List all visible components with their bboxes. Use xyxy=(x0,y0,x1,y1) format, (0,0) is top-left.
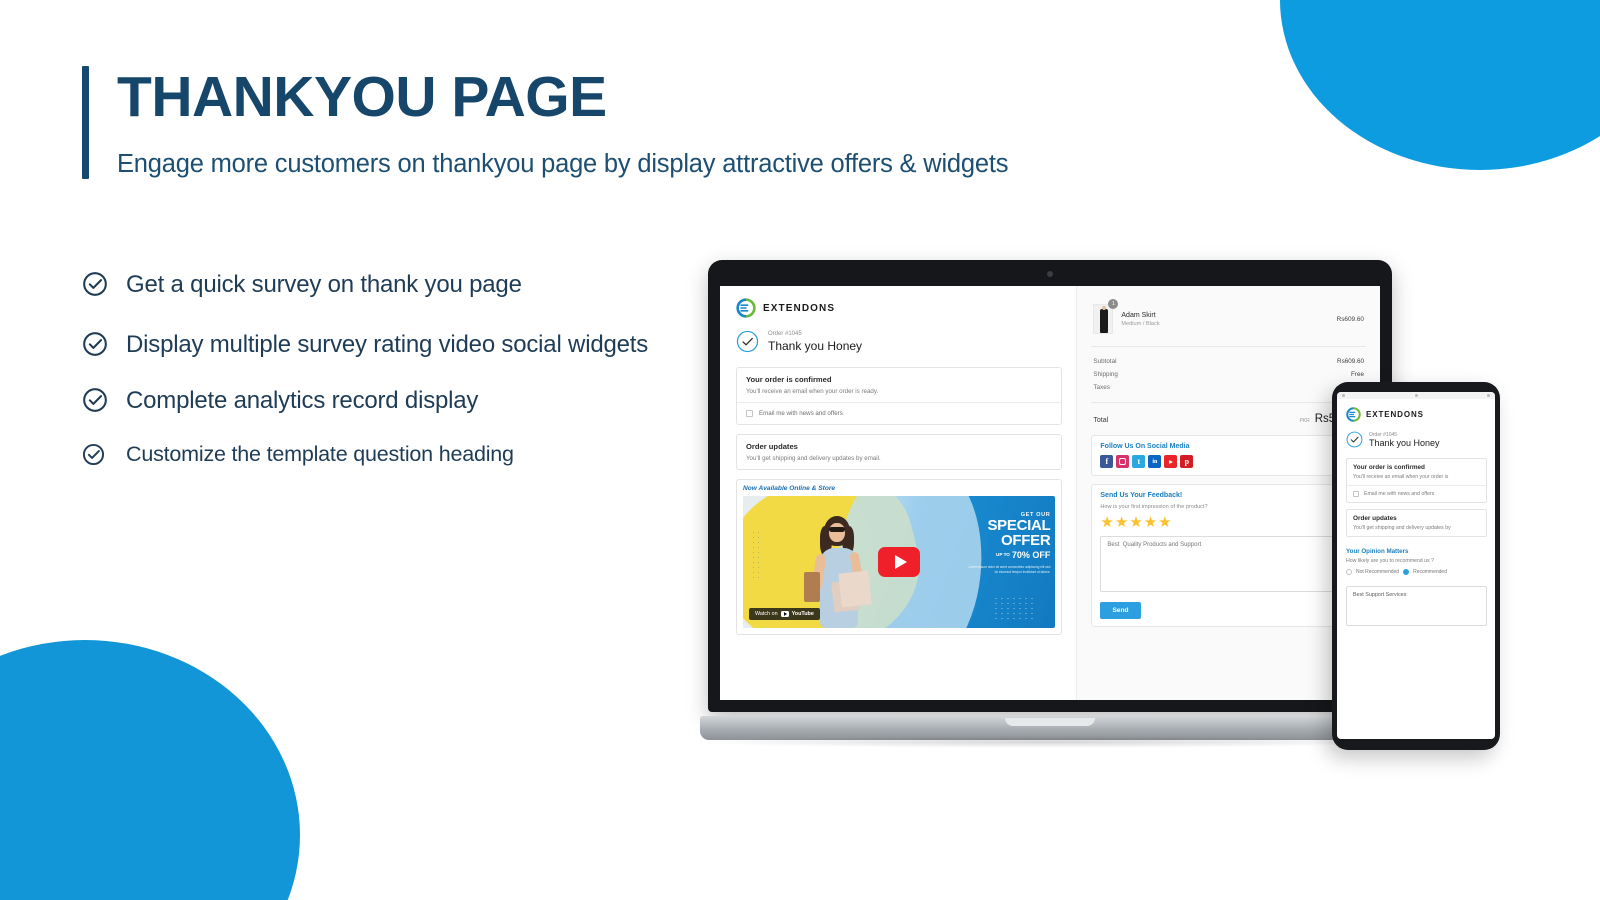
updates-title: Order updates xyxy=(746,442,1052,451)
social-media-widget: Follow Us On Social Media f t in p xyxy=(1091,435,1366,476)
promo-heading: Now Available Online & Store xyxy=(743,485,1055,492)
phone-opinion-title: Your Opinion Matters xyxy=(1346,548,1481,555)
confirmed-section: Your order is confirmed You'll receive a… xyxy=(737,368,1061,402)
promo-discount: UP TO70% OFF xyxy=(964,550,1050,560)
thankyou-page: EXTENDONS Order #1045 Thank you Honey xyxy=(720,286,1380,700)
confirmed-title: Your order is confirmed xyxy=(746,375,1052,384)
status-dot-icon xyxy=(1487,394,1490,397)
check-circle-icon xyxy=(82,440,108,471)
radio-not-recommended[interactable] xyxy=(1346,569,1352,575)
order-number: Order #1045 xyxy=(768,331,862,337)
watch-on-youtube-button[interactable]: Watch on YouTube xyxy=(749,608,820,620)
status-dot-icon xyxy=(1415,394,1418,397)
phone-confirmed-card: Your order is confirmed You'll receive a… xyxy=(1346,458,1487,503)
order-confirmed-card: Your order is confirmed You'll receive a… xyxy=(736,367,1062,425)
extendons-logo-icon xyxy=(1346,407,1361,422)
list-item: Get a quick survey on thank you page xyxy=(82,268,682,302)
webcam-icon xyxy=(1047,271,1053,277)
store-brand: EXTENDONS xyxy=(736,298,1062,318)
star-rating[interactable]: ★★★★★ xyxy=(1100,515,1357,530)
feature-label: Complete analytics record display xyxy=(126,384,478,417)
thank-you-heading: Thank you Honey xyxy=(768,339,862,353)
divider xyxy=(1091,346,1366,347)
feedback-title: Send Us Your Feedback! xyxy=(1100,492,1357,499)
feature-label: Display multiple survey rating video soc… xyxy=(126,328,648,361)
instagram-icon[interactable] xyxy=(1116,455,1129,468)
newsletter-label: Email me with news and offers xyxy=(759,410,843,417)
summary-label: Shipping xyxy=(1093,371,1118,378)
line-item-row: 1 Adam Skirt Medium / Black Rs609.60 xyxy=(1091,298,1366,344)
confirmed-subtitle: You'll receive an email when your order … xyxy=(746,388,1052,395)
phone-updates-subtitle: You'll get shipping and delivery updates… xyxy=(1353,525,1480,531)
phone-newsletter-row[interactable]: Email me with news and offers xyxy=(1347,485,1486,502)
quantity-badge: 1 xyxy=(1108,299,1118,309)
summary-value: Free xyxy=(1351,371,1364,378)
promo-special: SPECIAL xyxy=(964,518,1050,533)
laptop-lid: EXTENDONS Order #1045 Thank you Honey xyxy=(708,260,1392,712)
phone-thank-you: Thank you Honey xyxy=(1369,438,1440,448)
radio-not-recommended-label: Not Recommended xyxy=(1356,569,1399,575)
phone-confirmed-subtitle: You'll receive an email when your order … xyxy=(1353,474,1480,480)
check-circle-icon xyxy=(1346,431,1363,448)
banner-dot-grid-left xyxy=(751,530,761,578)
promo-up-to: UP TO xyxy=(996,552,1010,557)
send-button[interactable]: Send xyxy=(1100,602,1140,619)
linkedin-icon[interactable]: in xyxy=(1148,455,1161,468)
summary-label: Subtotal xyxy=(1093,358,1116,365)
radio-recommended[interactable] xyxy=(1403,569,1409,575)
summary-row: Subtotal Rs609.60 xyxy=(1091,355,1366,368)
check-circle-icon xyxy=(736,330,759,353)
accent-rule xyxy=(82,66,89,179)
list-item: Display multiple survey rating video soc… xyxy=(82,328,682,362)
laptop-shadow xyxy=(690,736,1410,748)
phone-mockup: EXTENDONS Order #1045 Thank you Honey xyxy=(1332,382,1500,750)
newsletter-optin-row[interactable]: Email me with news and offers xyxy=(737,402,1061,424)
phone-updates-card: Order updates You'll get shipping and de… xyxy=(1346,509,1487,537)
phone-status-bar xyxy=(1337,392,1495,399)
youtube-label: YouTube xyxy=(792,611,814,617)
updates-subtitle: You'll get shipping and delivery updates… xyxy=(746,455,1052,462)
check-circle-icon xyxy=(82,268,108,302)
brand-name: EXTENDONS xyxy=(763,303,835,314)
total-currency: PKR xyxy=(1299,418,1309,424)
play-triangle-icon xyxy=(895,555,907,569)
laptop-screen: EXTENDONS Order #1045 Thank you Honey xyxy=(720,286,1380,700)
summary-row: Shipping Free xyxy=(1091,368,1366,381)
updates-section: Order updates You'll get shipping and de… xyxy=(737,435,1061,469)
phone-opinion-widget: Your Opinion Matters How likely are you … xyxy=(1346,543,1487,580)
extendons-logo-icon xyxy=(736,298,756,318)
product-price: Rs609.60 xyxy=(1337,316,1364,323)
phone-recommend-options: Not Recommended Recommended xyxy=(1346,569,1481,575)
phone-updates-section: Order updates You'll get shipping and de… xyxy=(1347,510,1486,536)
phone-screen: EXTENDONS Order #1045 Thank you Honey xyxy=(1337,392,1495,739)
phone-comment-textarea[interactable]: Best Support Services xyxy=(1346,586,1487,626)
feature-label: Get a quick survey on thank you page xyxy=(126,268,522,301)
page-subtitle: Engage more customers on thankyou page b… xyxy=(117,150,1008,179)
feature-label: Customize the template question heading xyxy=(126,440,514,470)
promo-copy: GET OUR SPECIAL OFFER UP TO70% OFF Lorem… xyxy=(964,512,1050,575)
check-circle-icon xyxy=(82,328,108,362)
phone-opinion-question: How likely are you to recommend us ? xyxy=(1346,558,1481,564)
phone-updates-title: Order updates xyxy=(1353,515,1480,522)
laptop-mockup: EXTENDONS Order #1045 Thank you Honey xyxy=(700,260,1400,740)
total-label: Total xyxy=(1093,417,1108,424)
youtube-icon xyxy=(781,611,789,617)
social-widget-title: Follow Us On Social Media xyxy=(1100,443,1357,450)
summary-label: Taxes xyxy=(1093,384,1109,391)
promo-video-widget[interactable]: Now Available Online & Store xyxy=(736,479,1062,635)
total-row: Total PKR Rs591.14 xyxy=(1091,411,1366,435)
social-icon-row: f t in p xyxy=(1100,455,1357,468)
check-circle-icon xyxy=(82,384,108,418)
phone-newsletter-checkbox[interactable] xyxy=(1353,491,1359,497)
feedback-textarea[interactable] xyxy=(1100,536,1357,592)
hero-header: THANKYOU PAGE Engage more customers on t… xyxy=(82,66,1008,179)
feedback-widget: Send Us Your Feedback! How is your first… xyxy=(1091,484,1366,627)
youtube-icon[interactable] xyxy=(1164,455,1177,468)
status-dot-icon xyxy=(1342,394,1345,397)
facebook-icon[interactable]: f xyxy=(1100,455,1113,468)
slide-canvas: THANKYOU PAGE Engage more customers on t… xyxy=(0,0,1600,900)
promo-get-our: GET OUR xyxy=(964,512,1050,518)
product-thumbnail: 1 xyxy=(1093,304,1113,334)
phone-confirmed-section: Your order is confirmed You'll receive a… xyxy=(1347,459,1486,485)
phone-content: EXTENDONS Order #1045 Thank you Honey xyxy=(1337,399,1495,626)
product-name: Adam Skirt xyxy=(1121,312,1159,319)
summary-value: Rs609.60 xyxy=(1337,358,1364,365)
phone-newsletter-label: Email me with news and offers xyxy=(1364,491,1434,497)
decorative-circle-bottom-left xyxy=(0,640,300,900)
watch-on-label: Watch on xyxy=(755,611,778,617)
order-updates-card: Order updates You'll get shipping and de… xyxy=(736,434,1062,470)
promo-body-copy: Lorem ipsum dolor sit amet consectetur a… xyxy=(964,565,1050,575)
summary-row: Taxes Rs81.54 xyxy=(1091,381,1366,394)
play-button[interactable] xyxy=(878,547,920,577)
product-variant: Medium / Black xyxy=(1121,321,1159,327)
list-item: Complete analytics record display xyxy=(82,384,682,418)
banner-dot-grid-right xyxy=(993,596,1037,620)
promo-banner-image[interactable]: GET OUR SPECIAL OFFER UP TO70% OFF Lorem… xyxy=(743,496,1055,628)
newsletter-checkbox[interactable] xyxy=(746,410,753,417)
page-title: THANKYOU PAGE xyxy=(117,68,1008,128)
list-item: Customize the template question heading xyxy=(82,440,682,471)
twitter-icon[interactable]: t xyxy=(1132,455,1145,468)
promo-offer: OFFER xyxy=(964,533,1050,548)
feedback-question: How is your first impression of the prod… xyxy=(1100,504,1357,510)
phone-body: EXTENDONS Order #1045 Thank you Honey xyxy=(1332,382,1500,750)
divider xyxy=(1091,402,1366,403)
promo-discount-value: 70% OFF xyxy=(1012,550,1051,560)
order-details-column: EXTENDONS Order #1045 Thank you Honey xyxy=(720,286,1076,700)
phone-opinion-section: Your Opinion Matters How likely are you … xyxy=(1346,543,1487,580)
phone-brand-name: EXTENDONS xyxy=(1366,410,1424,419)
decorative-circle-top-right xyxy=(1280,0,1600,170)
radio-recommended-label: Recommended xyxy=(1413,569,1447,575)
pinterest-icon[interactable]: p xyxy=(1180,455,1193,468)
phone-order-header: Order #1045 Thank you Honey xyxy=(1346,431,1487,448)
order-confirmation-header: Order #1045 Thank you Honey xyxy=(736,330,1062,353)
feature-list: Get a quick survey on thank you page Dis… xyxy=(82,268,682,497)
phone-confirmed-title: Your order is confirmed xyxy=(1353,464,1480,471)
phone-store-brand: EXTENDONS xyxy=(1346,407,1487,422)
